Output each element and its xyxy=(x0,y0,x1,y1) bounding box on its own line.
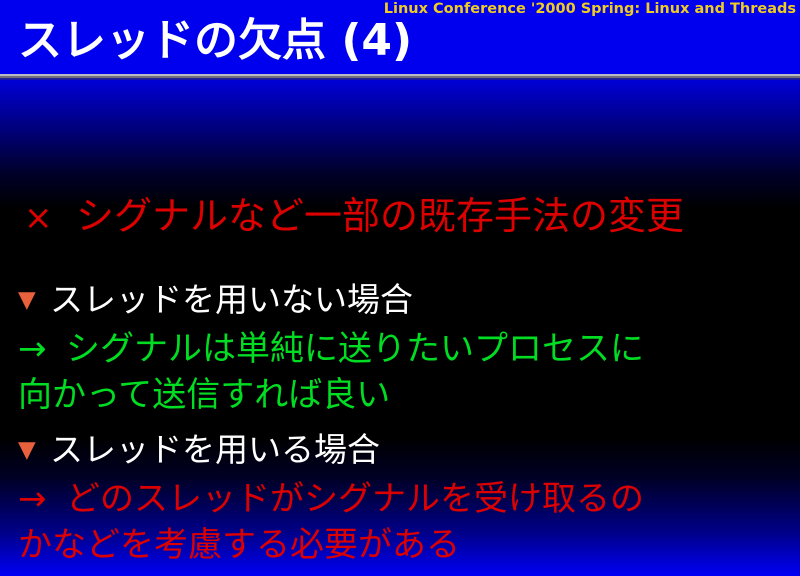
triangle-down-icon: ▼ xyxy=(18,430,50,470)
subheading-with-threads-label: スレッドを用いる場合 xyxy=(50,430,380,469)
presentation-slide: Linux Conference '2000 Spring: Linux and… xyxy=(0,0,800,576)
slide-header: Linux Conference '2000 Spring: Linux and… xyxy=(0,0,800,74)
detail-with-threads: →どのスレッドがシグナルを受け取るの かなどを考慮する必要がある xyxy=(18,476,788,568)
arrow-right-icon: → xyxy=(18,326,66,372)
detail-without-threads-line2: 向かって送信すれば良い xyxy=(18,372,788,418)
subheading-without-threads: ▼スレッドを用いない場合 xyxy=(18,280,413,320)
cross-icon: × xyxy=(24,195,76,241)
bullet-item-signal-change: ×シグナルなど一部の既存手法の変更 xyxy=(24,193,684,241)
subheading-without-threads-label: スレッドを用いない場合 xyxy=(50,280,413,319)
detail-with-threads-line2: かなどを考慮する必要がある xyxy=(18,522,788,568)
bullet-item-signal-change-label: シグナルなど一部の既存手法の変更 xyxy=(76,194,684,238)
subheading-with-threads: ▼スレッドを用いる場合 xyxy=(18,430,380,470)
detail-without-threads-line1: シグナルは単純に送りたいプロセスに xyxy=(66,329,644,369)
triangle-down-icon: ▼ xyxy=(18,280,50,320)
conference-banner-text: Linux Conference '2000 Spring: Linux and… xyxy=(384,0,796,18)
slide-body: ×シグナルなど一部の既存手法の変更 ▼スレッドを用いない場合 →シグナルは単純に… xyxy=(0,80,800,576)
slide-title: スレッドの欠点 (4) xyxy=(18,14,412,68)
detail-without-threads: →シグナルは単純に送りたいプロセスに 向かって送信すれば良い xyxy=(18,326,788,418)
detail-with-threads-line1: どのスレッドがシグナルを受け取るの xyxy=(66,479,644,519)
arrow-right-icon: → xyxy=(18,476,66,522)
